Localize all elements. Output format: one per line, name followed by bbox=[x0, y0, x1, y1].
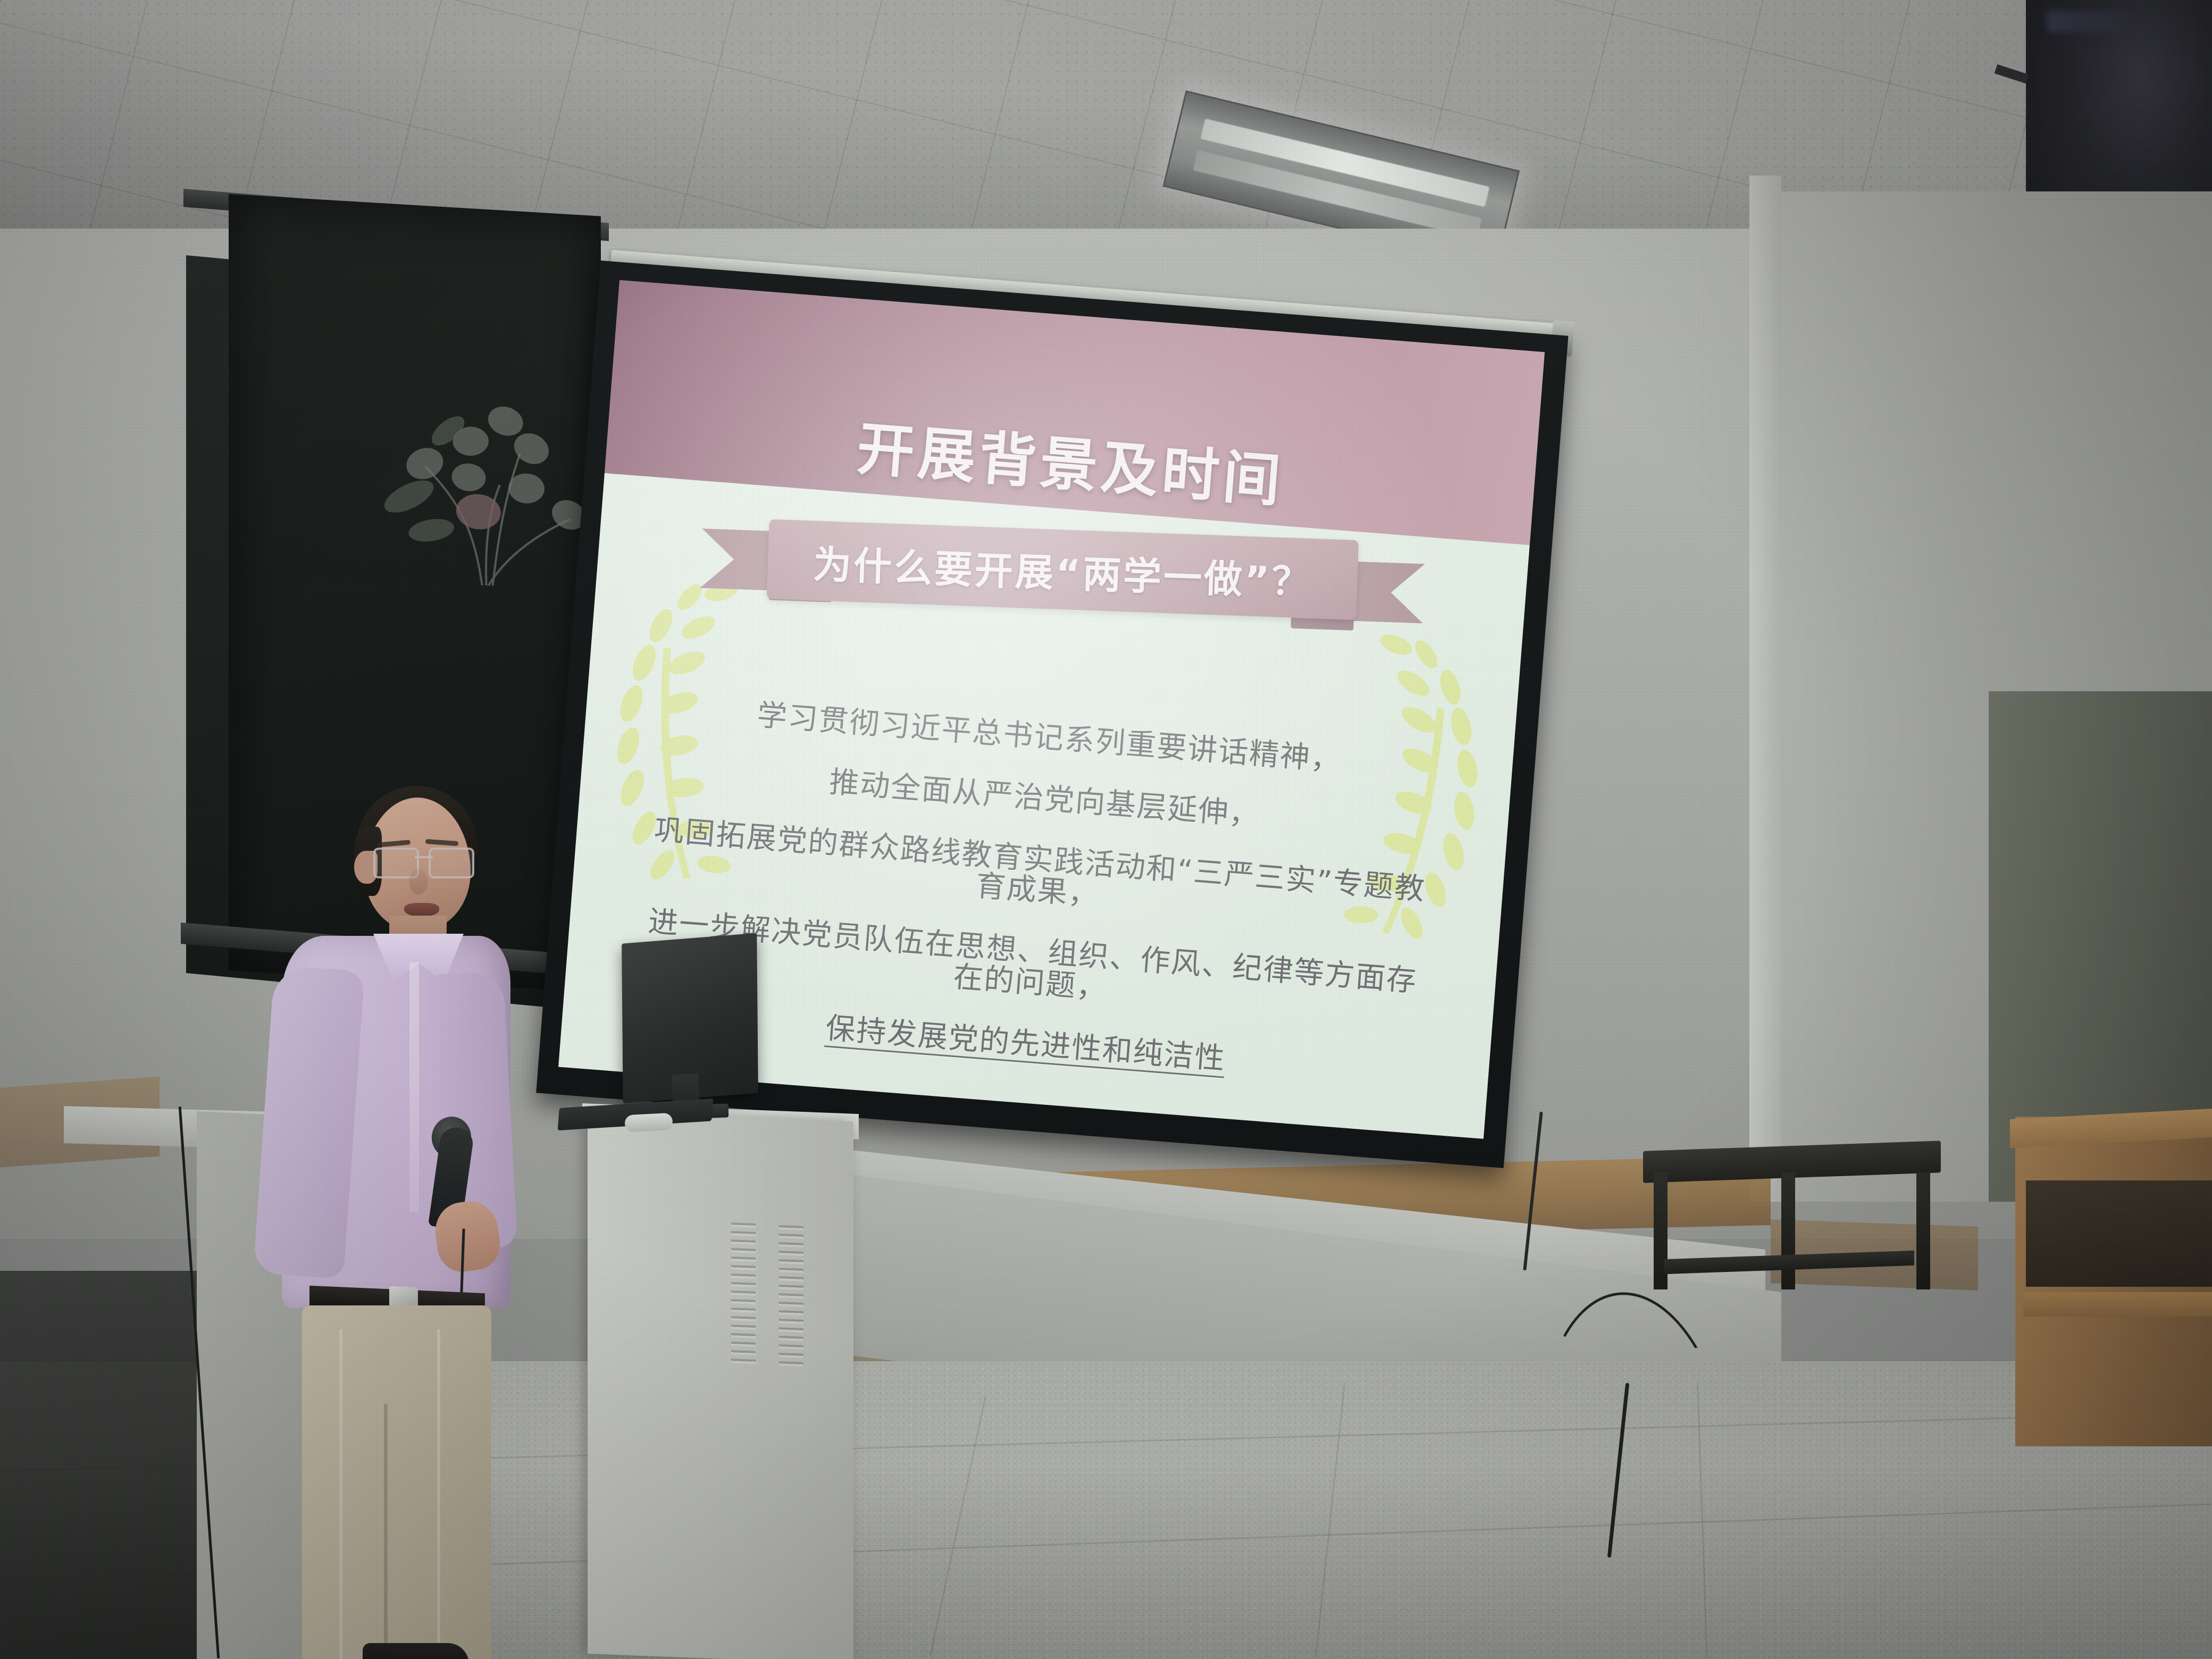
wall-corner-pillar bbox=[1749, 175, 1781, 1202]
presenter-nose bbox=[409, 869, 428, 895]
trouser-crease bbox=[339, 1329, 342, 1659]
speaker-highlight bbox=[2047, 11, 2138, 32]
ribbon-label: 为什么要开展“两学一做”？ bbox=[812, 533, 1313, 607]
ribbon-band: 为什么要开展“两学一做”？ bbox=[766, 519, 1359, 620]
slide-ribbon-banner: 为什么要开展“两学一做”？ bbox=[699, 517, 1426, 623]
eyeglass-bridge bbox=[415, 856, 433, 858]
mouse[interactable] bbox=[624, 1113, 673, 1133]
eyeglass-lens bbox=[429, 848, 474, 878]
table-leg bbox=[1781, 1172, 1795, 1289]
bench-rail bbox=[2023, 1292, 2212, 1317]
presenter-trousers bbox=[302, 1305, 491, 1659]
trouser-crease bbox=[437, 1329, 440, 1659]
table-leg bbox=[1916, 1172, 1930, 1289]
lectern-cabinet[interactable] bbox=[588, 1111, 853, 1659]
shirt-placket bbox=[409, 962, 419, 1212]
podium-vent-louvers bbox=[731, 1222, 756, 1367]
podium-vent-louvers bbox=[779, 1225, 803, 1370]
chalk-flower-drawing-icon bbox=[342, 367, 605, 600]
trouser-leg-split bbox=[384, 1404, 388, 1659]
floor-shadow-region bbox=[0, 1271, 223, 1659]
bench-under-shadow bbox=[2026, 1180, 2212, 1287]
lecture-hall-scene: 开展背景及时间 bbox=[0, 0, 2212, 1659]
presenter bbox=[250, 776, 548, 1659]
presenter-shoe bbox=[363, 1643, 469, 1659]
presenter-mouth bbox=[404, 903, 439, 917]
